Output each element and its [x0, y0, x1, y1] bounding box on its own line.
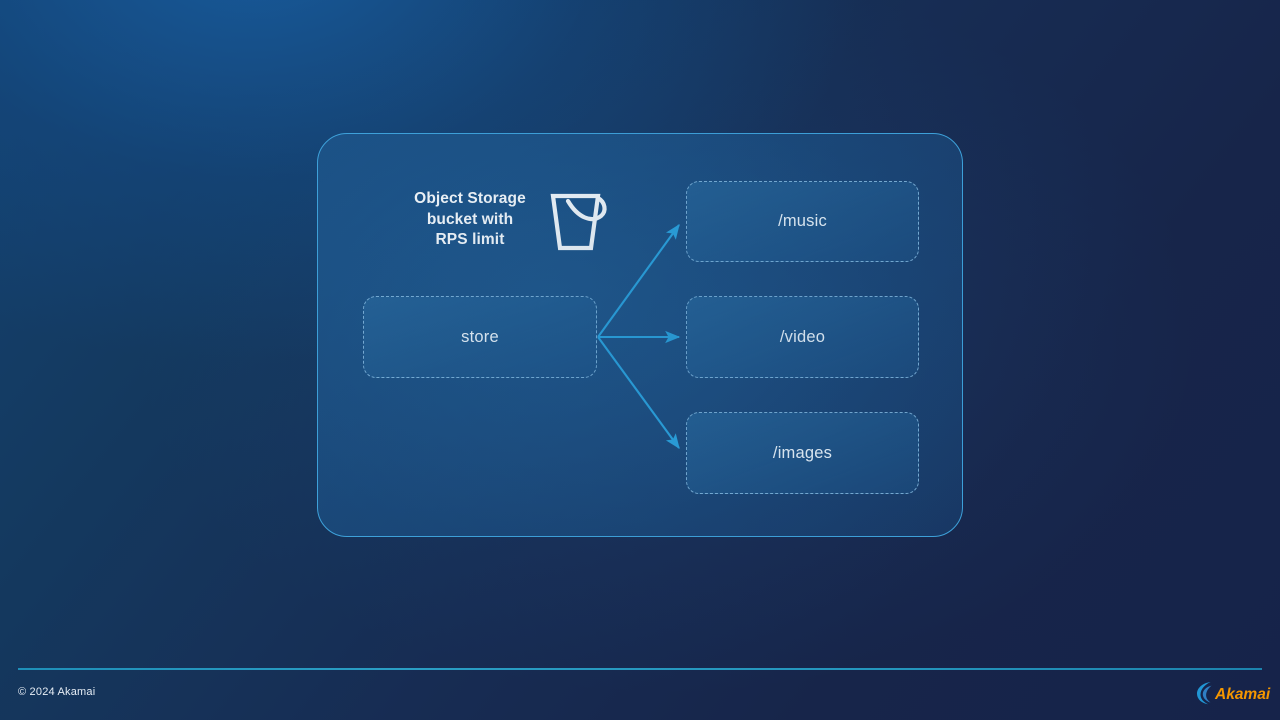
object-storage-bucket-group: Object Storage bucket with RPS limit [378, 181, 646, 259]
node-store[interactable]: store [363, 296, 597, 378]
storage-bucket-icon [548, 187, 610, 253]
akamai-logo: Akamai [1196, 678, 1272, 708]
object-storage-bucket-label: Object Storage bucket with RPS limit [414, 189, 526, 251]
node-video[interactable]: /video [686, 296, 919, 378]
footer-divider [18, 668, 1262, 670]
diagram-card: Object Storage bucket with RPS limit sto… [317, 133, 963, 537]
node-images[interactable]: /images [686, 412, 919, 494]
node-store-label: store [461, 328, 499, 347]
arrow-store-to-images [598, 337, 679, 448]
node-images-label: /images [773, 444, 832, 463]
akamai-swirl-icon [1197, 682, 1212, 704]
akamai-wordmark: Akamai [1214, 686, 1271, 703]
node-music-label: /music [778, 212, 827, 231]
node-music[interactable]: /music [686, 181, 919, 262]
slide-canvas: Object Storage bucket with RPS limit sto… [0, 0, 1280, 720]
footer-copyright: © 2024 Akamai [18, 686, 95, 698]
akamai-logo-icon: Akamai [1196, 680, 1272, 706]
node-video-label: /video [780, 328, 825, 347]
